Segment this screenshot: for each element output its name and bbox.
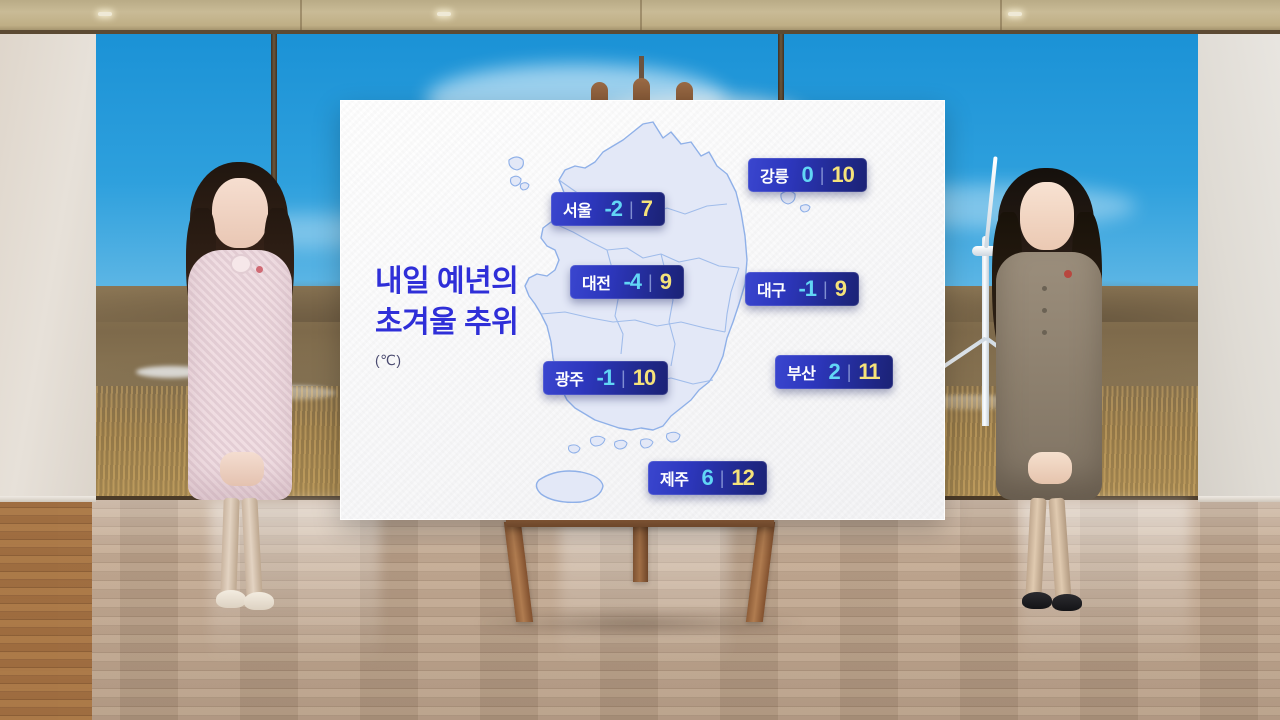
city-name: 강릉 xyxy=(760,163,788,187)
high-temp: 12 xyxy=(731,465,753,491)
city-name: 서울 xyxy=(563,197,591,221)
high-temp: 7 xyxy=(641,196,652,222)
left-presenter xyxy=(160,162,320,642)
temp-separator: | xyxy=(629,199,634,220)
right-presenter xyxy=(970,168,1130,638)
high-temp: 9 xyxy=(835,276,846,302)
low-temp: -1 xyxy=(596,365,614,391)
temp-label-gangneung[interactable]: 강릉 0 | 10 xyxy=(748,158,867,192)
low-temp: -2 xyxy=(604,196,622,222)
high-temp: 10 xyxy=(831,162,853,188)
temp-label-daegu[interactable]: 대구 -1 | 9 xyxy=(745,272,859,306)
baseboard xyxy=(1198,496,1280,502)
downlight-icon xyxy=(98,12,112,16)
low-temp: 6 xyxy=(701,465,712,491)
city-name: 대구 xyxy=(757,277,785,301)
temp-separator: | xyxy=(648,272,653,293)
temp-separator: | xyxy=(823,279,828,300)
low-temp: 2 xyxy=(828,359,839,385)
floor-wood-strip xyxy=(0,500,92,720)
temp-label-daejeon[interactable]: 대전 -4 | 9 xyxy=(570,265,684,299)
downlight-icon xyxy=(437,12,451,16)
broadcast-screen: 내일 예년의 초겨울 추위 (℃) xyxy=(0,0,1280,720)
city-name: 광주 xyxy=(555,366,583,390)
temp-separator: | xyxy=(820,165,825,186)
temp-separator: | xyxy=(720,468,725,489)
city-name: 제주 xyxy=(660,466,688,490)
city-name: 부산 xyxy=(787,360,815,384)
low-temp: -4 xyxy=(623,269,641,295)
easel-leg-center xyxy=(633,522,648,582)
low-temp: -1 xyxy=(798,276,816,302)
downlight-icon xyxy=(1008,12,1022,16)
high-temp: 10 xyxy=(633,365,655,391)
low-temp: 0 xyxy=(801,162,812,188)
temp-label-seoul[interactable]: 서울 -2 | 7 xyxy=(551,192,665,226)
temp-label-gwangju[interactable]: 광주 -1 | 10 xyxy=(543,361,668,395)
baseboard xyxy=(0,496,96,502)
city-name: 대전 xyxy=(582,270,610,294)
temp-separator: | xyxy=(847,362,852,383)
temp-separator: | xyxy=(621,368,626,389)
high-temp: 11 xyxy=(858,359,879,385)
temp-label-jeju[interactable]: 제주 6 | 12 xyxy=(648,461,767,495)
high-temp: 9 xyxy=(660,269,671,295)
studio-ceiling xyxy=(0,0,1280,34)
temp-label-busan[interactable]: 부산 2 | 11 xyxy=(775,355,893,389)
